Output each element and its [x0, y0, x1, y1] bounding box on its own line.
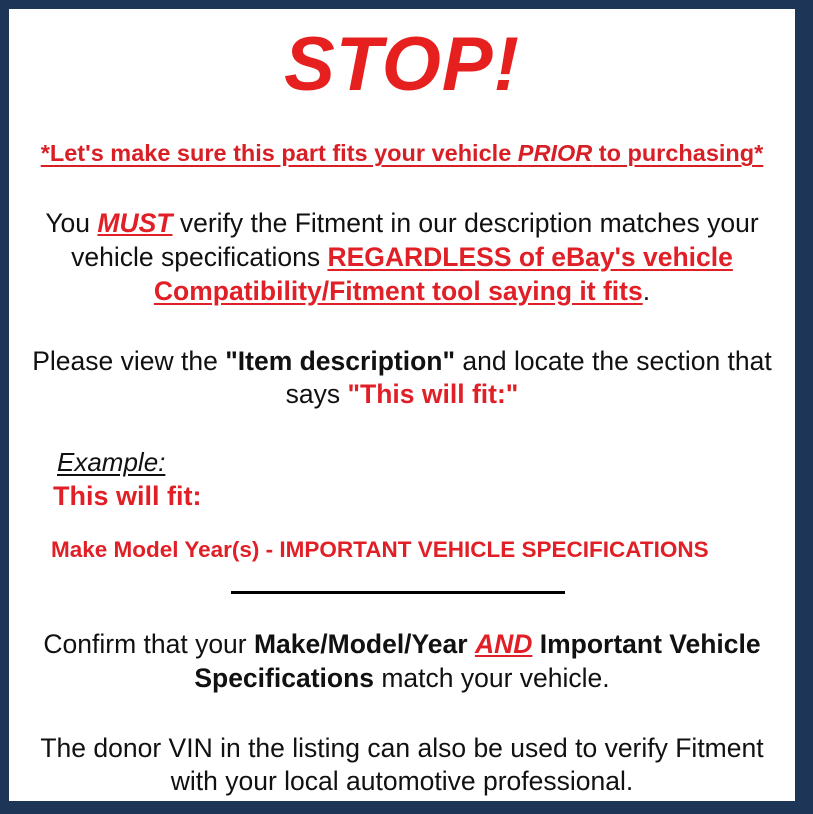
example-will-fit-heading: This will fit: — [53, 477, 795, 512]
thanks-message: Thank you for confirming Fitment! — [9, 799, 795, 814]
view-description-paragraph: Please view the "Item description" and l… — [9, 309, 795, 413]
must-verify-paragraph: You MUST verify the Fitment in our descr… — [9, 167, 795, 309]
confirm-paragraph: Confirm that your Make/Model/Year AND Im… — [9, 594, 795, 696]
example-label-row: Example: — [57, 448, 795, 477]
tagline-after: to purchasing* — [592, 140, 763, 166]
view-text-1: Please view the — [32, 346, 225, 376]
item-description-emphasis: "Item description" — [225, 346, 455, 376]
notice-content: STOP! *Let's make sure this part fits yo… — [9, 9, 795, 801]
tagline-before: *Let's make sure this part fits your veh… — [41, 140, 518, 166]
tagline: *Let's make sure this part fits your veh… — [9, 103, 795, 167]
example-label: Example: — [57, 448, 165, 477]
confirm-space-1 — [468, 629, 475, 659]
page-title: STOP! — [9, 9, 795, 103]
confirm-text-2: match your vehicle. — [374, 663, 610, 693]
example-spec-line: Make Model Year(s) - IMPORTANT VEHICLE S… — [51, 512, 795, 563]
tagline-emphasis: PRIOR — [518, 140, 592, 166]
must-emphasis: MUST — [97, 208, 172, 238]
confirm-space-2 — [532, 629, 539, 659]
donor-vin-paragraph: The donor VIN in the listing can also be… — [9, 696, 795, 800]
must-text-1: You — [45, 208, 97, 238]
make-model-year-emphasis: Make/Model/Year — [254, 629, 468, 659]
confirm-text-1: Confirm that your — [43, 629, 254, 659]
must-text-3: . — [643, 276, 650, 306]
example-block: Example: This will fit: Make Model Year(… — [9, 412, 795, 562]
fitment-notice-card: STOP! *Let's make sure this part fits yo… — [0, 0, 813, 814]
divider-wrap — [9, 563, 795, 594]
this-will-fit-emphasis: "This will fit:" — [347, 379, 518, 409]
and-emphasis: AND — [475, 629, 532, 659]
